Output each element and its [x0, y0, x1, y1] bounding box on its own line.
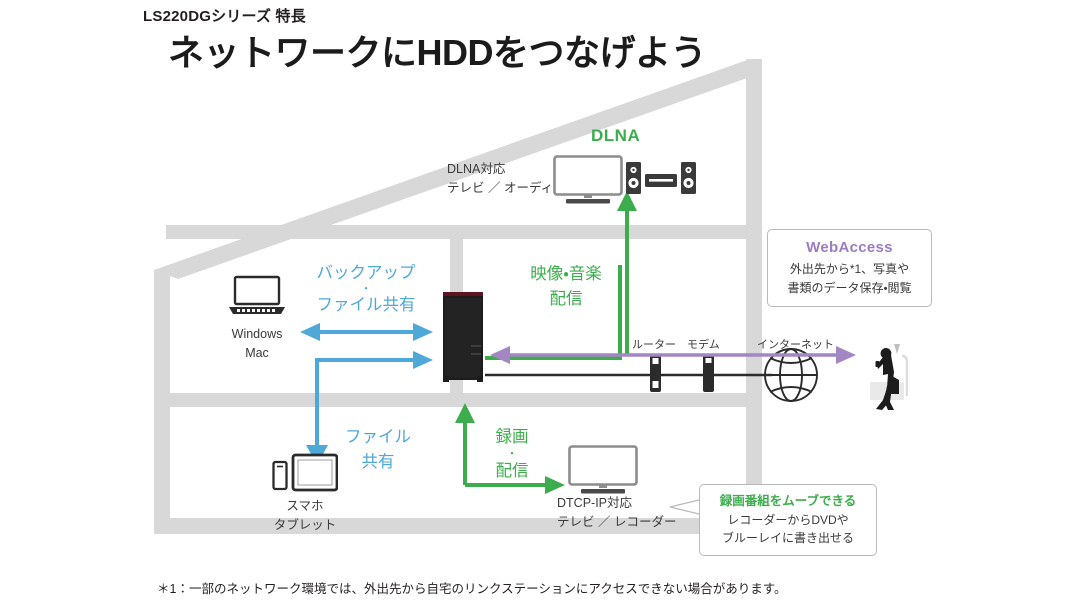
backup-flow-line2: ・: [303, 286, 429, 294]
modem-icon: [703, 354, 714, 392]
move-callout-title: 録画番組をムーブできる: [700, 493, 876, 510]
file-share-line2: 共有: [337, 450, 419, 475]
webaccess-description: 外出先から*1、写真や 書類のデータ保存・閲覧: [768, 260, 931, 298]
dlna-device-label-line2: テレビ ／ オーディオ: [447, 179, 566, 198]
speaker-system-icon: [626, 162, 696, 196]
linkstation-nas-icon: [440, 288, 486, 384]
move-callout: 録画番組をムーブできる レコーダーからDVDや ブルーレイに書き出せる: [699, 484, 877, 556]
record-flow-line2: ・: [483, 450, 541, 459]
webaccess-callout: WebAccess 外出先から*1、写真や 書類のデータ保存・閲覧: [767, 229, 932, 307]
media-flow-line2: 配信: [511, 287, 621, 312]
computer-label: Windows Mac: [222, 325, 292, 364]
mobile-label-line2: タブレット: [272, 516, 338, 535]
dtcp-television-icon: [568, 445, 638, 495]
move-desc-line2: ブルーレイに書き出せる: [700, 529, 876, 548]
media-flow-label: 映像・音楽 配信: [511, 262, 621, 312]
backup-flow-label: バックアップ ・ ファイル共有: [303, 261, 429, 318]
smartphone-tablet-icon: [272, 452, 338, 494]
series-label: LS220DGシリーズ 特長: [143, 5, 306, 26]
television-icon: [553, 155, 623, 205]
dtcp-label: DTCP-IP対応 テレビ ／ レコーダー: [557, 494, 676, 533]
media-flow-line1: 映像・音楽: [511, 262, 621, 287]
internet-label: インターネット: [757, 337, 834, 354]
backup-flow-line3: ファイル共有: [303, 293, 429, 318]
mobile-label-line1: スマホ: [272, 497, 338, 516]
blue-double-arrow-backup: [300, 323, 433, 425]
record-flow-line1: 録画: [483, 425, 541, 450]
dtcp-label-line2: テレビ ／ レコーダー: [557, 513, 676, 532]
file-share-line1: ファイル: [337, 425, 419, 450]
footnote: ＊1：一部のネットワーク環境では、外出先から自宅のリンクステーションにアクセスで…: [157, 578, 786, 597]
record-flow-line3: 配信: [483, 459, 541, 484]
move-desc-line1: レコーダーからDVDや: [700, 511, 876, 530]
webaccess-title: WebAccess: [768, 239, 931, 258]
record-flow-label: 録画 ・ 配信: [483, 425, 541, 483]
dtcp-label-line1: DTCP-IP対応: [557, 494, 676, 513]
dlna-title: DLNA: [591, 126, 640, 146]
router-icon: [650, 354, 661, 392]
webaccess-desc-line1: 外出先から*1、写真や: [768, 260, 931, 279]
laptop-icon: [228, 275, 286, 317]
computer-label-line2: Mac: [222, 344, 292, 363]
dlna-device-label-line1: DLNA対応: [447, 160, 566, 179]
dlna-device-label: DLNA対応 テレビ ／ オーディオ: [447, 160, 566, 199]
modem-label: モデム: [687, 337, 720, 354]
file-share-flow-label: ファイル 共有: [337, 425, 419, 475]
move-callout-description: レコーダーからDVDや ブルーレイに書き出せる: [700, 511, 876, 548]
mobile-label: スマホ タブレット: [272, 497, 338, 536]
person-with-phone-icon: [856, 342, 908, 414]
diagram-stage: LS220DGシリーズ 特長 ネットワークにHDDをつなげよう: [0, 0, 1080, 605]
globe-icon: [765, 349, 817, 401]
computer-label-line1: Windows: [222, 325, 292, 344]
webaccess-desc-line2: 書類のデータ保存・閲覧: [768, 279, 931, 298]
router-label: ルーター: [632, 337, 676, 354]
